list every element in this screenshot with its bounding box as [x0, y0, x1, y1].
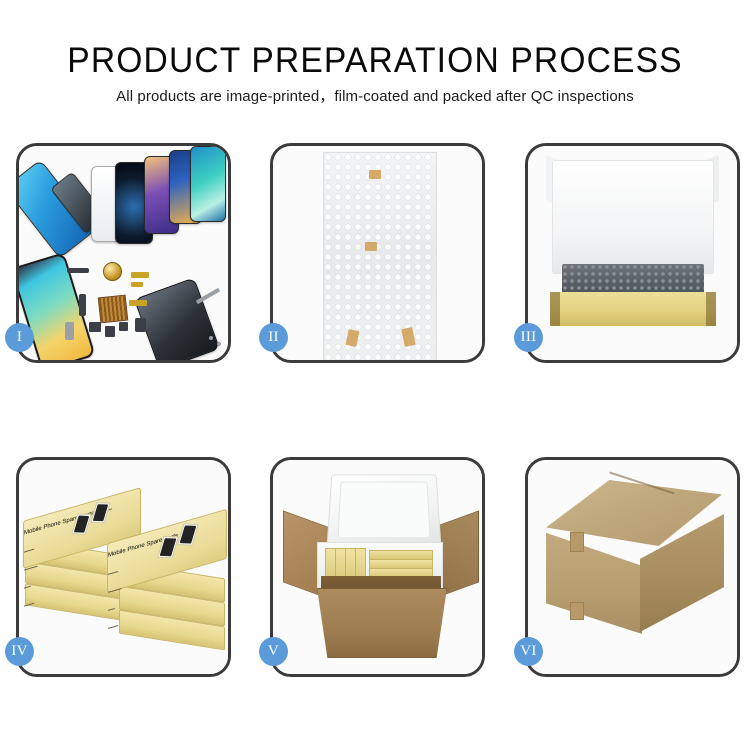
top-box-1-swatch-b [90, 502, 110, 523]
step-6-badge: VI [514, 637, 543, 666]
page-subtitle: All products are image-printed，film-coat… [0, 87, 750, 106]
step-panel-4[interactable]: Mobile Phone Spare Parts ▬▬▬▬▬▬▬▬▬▬▬▬▬▬▬… [16, 457, 231, 677]
camera-module [89, 322, 101, 332]
carton-tape-lower [570, 602, 584, 620]
header: PRODUCT PREPARATION PROCESS All products… [0, 42, 750, 106]
step-3-image [528, 146, 737, 360]
step-2-image [273, 146, 482, 360]
sealed-carton-illustration [528, 460, 737, 674]
small-board [135, 318, 146, 332]
stacked-boxes-illustration: Mobile Phone Spare Parts ▬▬▬▬▬▬▬▬▬▬▬▬▬▬▬… [19, 460, 228, 674]
phone-housing [134, 277, 220, 360]
flex-connector-2 [131, 282, 143, 287]
flex-connector-1 [131, 272, 149, 278]
step-5-image [273, 460, 482, 674]
process-steps-grid: I II [16, 143, 742, 677]
step-1-image [19, 146, 228, 360]
flex-connector-3 [129, 300, 147, 306]
step-5-badge: V [259, 637, 288, 666]
foam-box-lid [326, 474, 441, 548]
open-inner-box-illustration [528, 146, 737, 360]
product-preparation-process-page: PRODUCT PREPARATION PROCESS All products… [0, 0, 750, 750]
step-panel-2[interactable]: II [270, 143, 485, 363]
box-base-edge-left [550, 292, 560, 326]
step-6-image [528, 460, 737, 674]
tape-middle [365, 242, 377, 251]
top-box-2-swatch-b [177, 523, 199, 545]
page-title: PRODUCT PREPARATION PROCESS [15, 42, 735, 80]
earpiece-mesh [67, 268, 89, 273]
vibrator-module [119, 322, 128, 331]
carton-tape-upper [570, 532, 584, 552]
box-base-edge-right [706, 292, 716, 326]
logic-board-chip [98, 295, 129, 324]
step-panel-6[interactable]: VI [525, 457, 740, 677]
foam-box-lid-inner [337, 482, 430, 539]
phone-parts-illustration [19, 146, 228, 360]
step-4-image: Mobile Phone Spare Parts ▬▬▬▬▬▬▬▬▬▬▬▬▬▬▬… [19, 460, 228, 674]
box-white-lid [552, 160, 714, 274]
wireless-coil [103, 262, 122, 281]
step-2-badge: II [259, 323, 288, 352]
teal-phone [190, 146, 226, 222]
box-yellow-base [550, 292, 716, 326]
screw-2 [217, 342, 221, 346]
step-3-badge: III [514, 323, 543, 352]
step-panel-1[interactable]: I [16, 143, 231, 363]
step-4-badge: IV [5, 637, 34, 666]
tape-top [369, 170, 381, 179]
bubble-wrap-bag [323, 152, 437, 360]
speaker-module [105, 326, 115, 337]
step-1-badge: I [5, 323, 34, 352]
antenna-cable [79, 294, 86, 316]
screw-1 [209, 336, 213, 340]
foam-carton-illustration [273, 460, 482, 674]
sim-tray [65, 322, 74, 340]
step-panel-5[interactable]: V [270, 457, 485, 677]
step-panel-3[interactable]: III [525, 143, 740, 363]
bubble-wrapped-screen-illustration [273, 146, 482, 360]
carton-front-panel [317, 588, 447, 658]
